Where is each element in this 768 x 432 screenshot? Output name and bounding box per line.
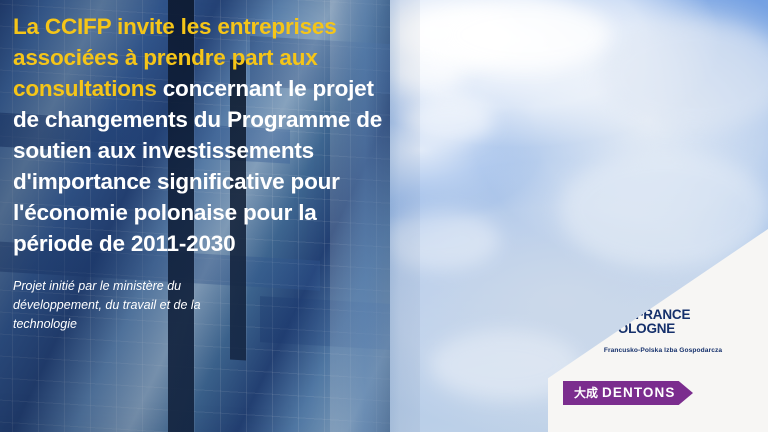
dentons-logo: 大成 DENTONS [563, 381, 693, 405]
promo-slide: La CCIFP invite les entreprises associée… [0, 0, 768, 432]
copy-block: La CCIFP invite les entreprises associée… [13, 11, 393, 334]
dentons-wordmark: DENTONS [602, 386, 675, 400]
cci-tagline: Francusko-Polska Izba Gospodarcza [568, 347, 758, 354]
subnote: Projet initié par le ministère du dévelo… [13, 277, 228, 334]
cloud-shape [440, 0, 610, 70]
headline-white-part: concernant le projet de changements du P… [13, 76, 382, 256]
headline: La CCIFP invite les entreprises associée… [13, 11, 393, 259]
dentons-cjk-wordmark: 大成 [574, 387, 598, 399]
